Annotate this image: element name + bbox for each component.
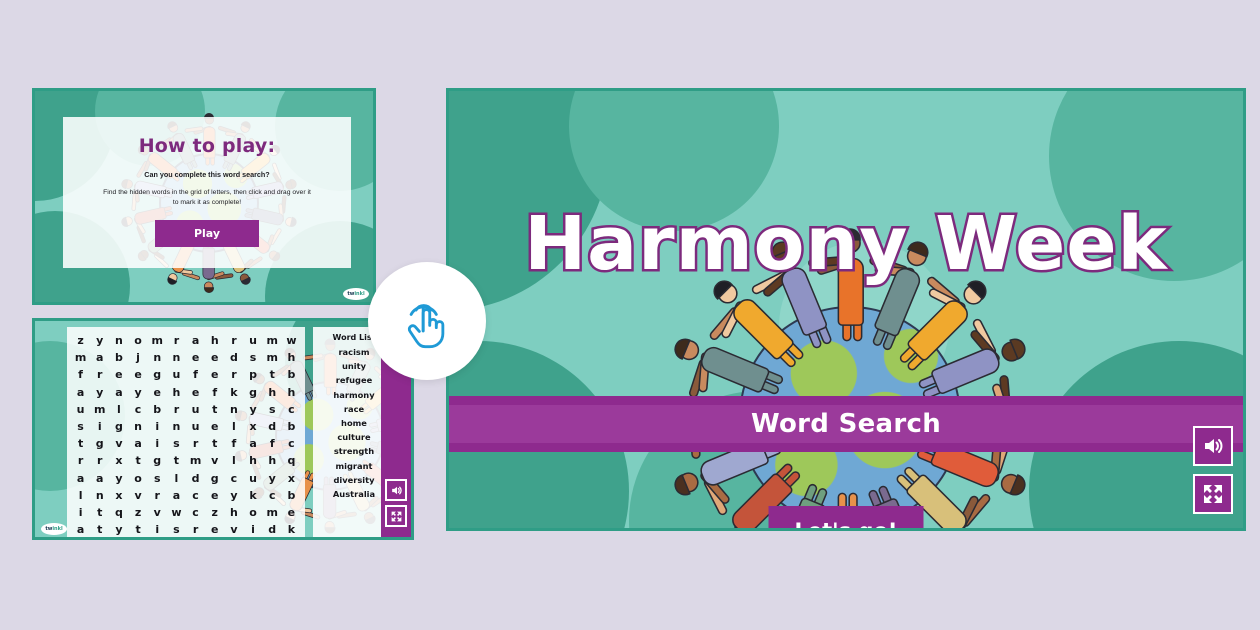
thumbnail-controls <box>385 479 407 527</box>
grid-cell[interactable]: c <box>282 436 301 452</box>
grid-cell[interactable]: u <box>243 471 262 487</box>
grid-cell[interactable]: e <box>205 488 224 504</box>
grid-cell[interactable]: y <box>128 385 147 401</box>
grid-cell[interactable]: w <box>167 505 186 521</box>
grid-cell[interactable]: h <box>263 453 282 469</box>
grid-cell[interactable]: g <box>243 385 262 401</box>
grid-cell[interactable]: c <box>186 505 205 521</box>
grid-cell[interactable]: t <box>205 402 224 418</box>
grid-cell[interactable]: a <box>71 471 90 487</box>
grid-cell[interactable]: y <box>109 522 128 538</box>
grid-cell[interactable]: h <box>243 453 262 469</box>
twinkl-logo-tw: tw <box>45 526 52 532</box>
grid-cell[interactable]: i <box>148 436 167 452</box>
grid-cell[interactable]: n <box>109 333 128 349</box>
twinkl-logo-tw: tw <box>347 291 354 297</box>
word-search-banner-label: Word Search <box>751 409 941 439</box>
fullscreen-button[interactable] <box>385 505 407 527</box>
grid-cell[interactable]: c <box>263 488 282 504</box>
grid-cell[interactable]: r <box>90 367 109 383</box>
grid-cell[interactable]: o <box>128 333 147 349</box>
grid-cell[interactable]: h <box>167 385 186 401</box>
grid-cell[interactable]: n <box>224 402 243 418</box>
grid-cell[interactable]: r <box>186 436 205 452</box>
grid-cell[interactable]: m <box>263 350 282 366</box>
grid-cell[interactable]: h <box>224 505 243 521</box>
letter-grid[interactable]: zynomrahrumwmabjnneedsmhfreeguferptbayay… <box>71 333 301 538</box>
how-to-play-question: Can you complete this word search? <box>144 170 269 179</box>
grid-cell[interactable]: t <box>71 436 90 452</box>
grid-cell[interactable]: l <box>109 402 128 418</box>
grid-cell[interactable]: y <box>109 471 128 487</box>
grid-cell[interactable]: c <box>186 488 205 504</box>
grid-cell[interactable]: h <box>263 385 282 401</box>
grid-cell[interactable]: p <box>243 367 262 383</box>
grid-cell[interactable]: a <box>90 471 109 487</box>
grid-cell[interactable]: t <box>205 436 224 452</box>
grid-cell[interactable]: l <box>167 471 186 487</box>
grid-cell[interactable]: x <box>282 471 301 487</box>
grid-cell[interactable]: h <box>205 333 224 349</box>
grid-cell[interactable]: o <box>128 471 147 487</box>
twinkl-logo-inkl: inkl <box>354 291 364 297</box>
grid-cell[interactable]: i <box>243 522 262 538</box>
grid-cell[interactable]: u <box>167 367 186 383</box>
grid-cell[interactable]: e <box>205 419 224 435</box>
grid-cell[interactable]: r <box>148 488 167 504</box>
tap-hand-icon <box>392 286 462 356</box>
grid-cell[interactable]: f <box>263 436 282 452</box>
grid-cell[interactable]: n <box>128 419 147 435</box>
grid-cell[interactable]: n <box>90 488 109 504</box>
grid-cell[interactable]: r <box>71 453 90 469</box>
grid-cell[interactable]: x <box>109 453 128 469</box>
volume-button[interactable] <box>1193 426 1233 466</box>
lets-go-button[interactable]: Let's go! <box>769 506 924 531</box>
grid-cell[interactable]: t <box>128 453 147 469</box>
grid-cell[interactable]: t <box>128 522 147 538</box>
thumbnail-how-to-play[interactable]: How to play: Can you complete this word … <box>32 88 376 305</box>
grid-cell[interactable]: b <box>282 488 301 504</box>
grid-cell[interactable]: m <box>186 453 205 469</box>
grid-cell[interactable]: f <box>224 436 243 452</box>
grid-cell[interactable]: b <box>148 402 167 418</box>
volume-button[interactable] <box>385 479 407 501</box>
grid-cell[interactable]: u <box>243 333 262 349</box>
grid-cell[interactable]: e <box>148 385 167 401</box>
grid-cell[interactable]: m <box>90 402 109 418</box>
fullscreen-icon <box>1201 482 1225 506</box>
grid-cell[interactable]: y <box>224 488 243 504</box>
grid-cell[interactable]: v <box>109 436 128 452</box>
grid-cell[interactable]: n <box>167 419 186 435</box>
grid-cell[interactable]: g <box>148 367 167 383</box>
grid-cell[interactable]: e <box>186 385 205 401</box>
how-to-play-instructions: Find the hidden words in the grid of let… <box>102 188 312 208</box>
grid-cell[interactable]: y <box>90 333 109 349</box>
grid-cell[interactable]: v <box>224 522 243 538</box>
grid-cell[interactable]: b <box>109 350 128 366</box>
illustration-scene <box>449 91 1243 528</box>
grid-cell[interactable]: u <box>186 419 205 435</box>
grid-cell[interactable]: e <box>205 350 224 366</box>
grid-cell[interactable]: q <box>109 505 128 521</box>
grid-cell[interactable]: l <box>224 419 243 435</box>
grid-cell[interactable]: f <box>71 367 90 383</box>
grid-cell[interactable]: y <box>263 471 282 487</box>
grid-cell[interactable]: m <box>71 350 90 366</box>
grid-cell[interactable]: b <box>282 419 301 435</box>
grid-cell[interactable]: m <box>148 333 167 349</box>
grid-cell[interactable]: l <box>71 488 90 504</box>
grid-cell[interactable]: c <box>282 402 301 418</box>
grid-cell[interactable]: x <box>109 488 128 504</box>
grid-cell[interactable]: s <box>167 436 186 452</box>
grid-cell[interactable]: e <box>109 367 128 383</box>
grid-cell[interactable]: a <box>71 522 90 538</box>
grid-cell[interactable]: s <box>71 419 90 435</box>
grid-cell[interactable]: y <box>90 385 109 401</box>
grid-cell[interactable]: a <box>109 385 128 401</box>
grid-cell[interactable]: q <box>282 453 301 469</box>
grid-cell[interactable]: a <box>71 385 90 401</box>
fullscreen-icon <box>390 510 403 523</box>
grid-cell[interactable]: v <box>148 505 167 521</box>
grid-cell[interactable]: a <box>186 333 205 349</box>
grid-cell[interactable]: u <box>186 402 205 418</box>
grid-cell[interactable]: c <box>128 402 147 418</box>
grid-cell[interactable]: e <box>282 505 301 521</box>
grid-cell[interactable]: a <box>243 436 262 452</box>
grid-cell[interactable]: j <box>128 350 147 366</box>
grid-cell[interactable]: m <box>263 505 282 521</box>
grid-cell[interactable]: r <box>167 333 186 349</box>
grid-cell[interactable]: i <box>148 522 167 538</box>
grid-cell[interactable]: o <box>243 505 262 521</box>
grid-cell[interactable]: i <box>148 419 167 435</box>
grid-cell[interactable]: c <box>224 471 243 487</box>
grid-cell[interactable]: u <box>71 402 90 418</box>
grid-cell[interactable]: y <box>243 402 262 418</box>
grid-cell[interactable]: h <box>282 385 301 401</box>
grid-cell[interactable]: w <box>282 333 301 349</box>
grid-cell[interactable]: t <box>90 505 109 521</box>
grid-cell[interactable]: d <box>263 419 282 435</box>
speaker-icon <box>1201 434 1225 458</box>
grid-cell[interactable]: z <box>71 333 90 349</box>
grid-cell[interactable]: x <box>243 419 262 435</box>
twinkl-logo: twinkl <box>343 288 369 300</box>
grid-cell[interactable]: h <box>282 350 301 366</box>
cursor-badge <box>368 262 486 380</box>
how-to-play-title: How to play: <box>139 135 276 157</box>
grid-cell[interactable]: e <box>128 367 147 383</box>
grid-cell[interactable]: n <box>148 350 167 366</box>
grid-cell[interactable]: l <box>224 453 243 469</box>
grid-cell[interactable]: i <box>71 505 90 521</box>
grid-cell[interactable]: m <box>263 333 282 349</box>
grid-cell[interactable]: z <box>128 505 147 521</box>
play-button[interactable]: Play <box>155 220 259 247</box>
grid-cell[interactable]: a <box>167 488 186 504</box>
grid-cell[interactable]: t <box>167 453 186 469</box>
grid-cell[interactable]: e <box>186 350 205 366</box>
grid-cell[interactable]: r <box>90 453 109 469</box>
grid-cell[interactable]: r <box>167 402 186 418</box>
grid-cell[interactable]: d <box>186 471 205 487</box>
grid-cell[interactable]: f <box>186 367 205 383</box>
grid-cell[interactable]: g <box>90 436 109 452</box>
main-slide[interactable]: Harmony Week Word Search Let's go! twink… <box>446 88 1246 531</box>
grid-cell[interactable]: n <box>167 350 186 366</box>
twinkl-logo: twinkl <box>41 523 67 535</box>
twinkl-logo-inkl: inkl <box>52 526 62 532</box>
grid-cell[interactable]: r <box>186 522 205 538</box>
speaker-icon <box>390 484 403 497</box>
grid-cell[interactable]: v <box>205 453 224 469</box>
letter-grid-card[interactable]: zynomrahrumwmabjnneedsmhfreeguferptbayay… <box>67 327 305 537</box>
grid-cell[interactable]: g <box>148 453 167 469</box>
grid-cell[interactable]: d <box>224 350 243 366</box>
grid-cell[interactable]: r <box>224 333 243 349</box>
grid-cell[interactable]: s <box>167 522 186 538</box>
grid-cell[interactable]: k <box>282 522 301 538</box>
page-title: Harmony Week <box>449 207 1243 281</box>
grid-cell[interactable]: s <box>148 471 167 487</box>
grid-cell[interactable]: e <box>205 522 224 538</box>
grid-cell[interactable]: d <box>263 522 282 538</box>
how-to-play-card: How to play: Can you complete this word … <box>63 117 351 268</box>
grid-cell[interactable]: s <box>243 350 262 366</box>
grid-cell[interactable]: k <box>243 488 262 504</box>
thumbnail-word-search[interactable]: zynomrahrumwmabjnneedsmhfreeguferptbayay… <box>32 318 414 540</box>
grid-cell[interactable]: b <box>282 367 301 383</box>
word-search-banner: Word Search <box>449 396 1243 452</box>
grid-cell[interactable]: g <box>205 471 224 487</box>
main-controls <box>1193 426 1233 514</box>
fullscreen-button[interactable] <box>1193 474 1233 514</box>
grid-cell[interactable]: t <box>90 522 109 538</box>
grid-cell[interactable]: k <box>224 385 243 401</box>
grid-cell[interactable]: e <box>205 367 224 383</box>
grid-cell[interactable]: f <box>205 385 224 401</box>
grid-cell[interactable]: a <box>128 436 147 452</box>
grid-cell[interactable]: s <box>263 402 282 418</box>
grid-cell[interactable]: t <box>263 367 282 383</box>
grid-cell[interactable]: i <box>90 419 109 435</box>
grid-cell[interactable]: g <box>109 419 128 435</box>
grid-cell[interactable]: v <box>128 488 147 504</box>
grid-cell[interactable]: a <box>90 350 109 366</box>
grid-cell[interactable]: r <box>224 367 243 383</box>
grid-cell[interactable]: z <box>205 505 224 521</box>
